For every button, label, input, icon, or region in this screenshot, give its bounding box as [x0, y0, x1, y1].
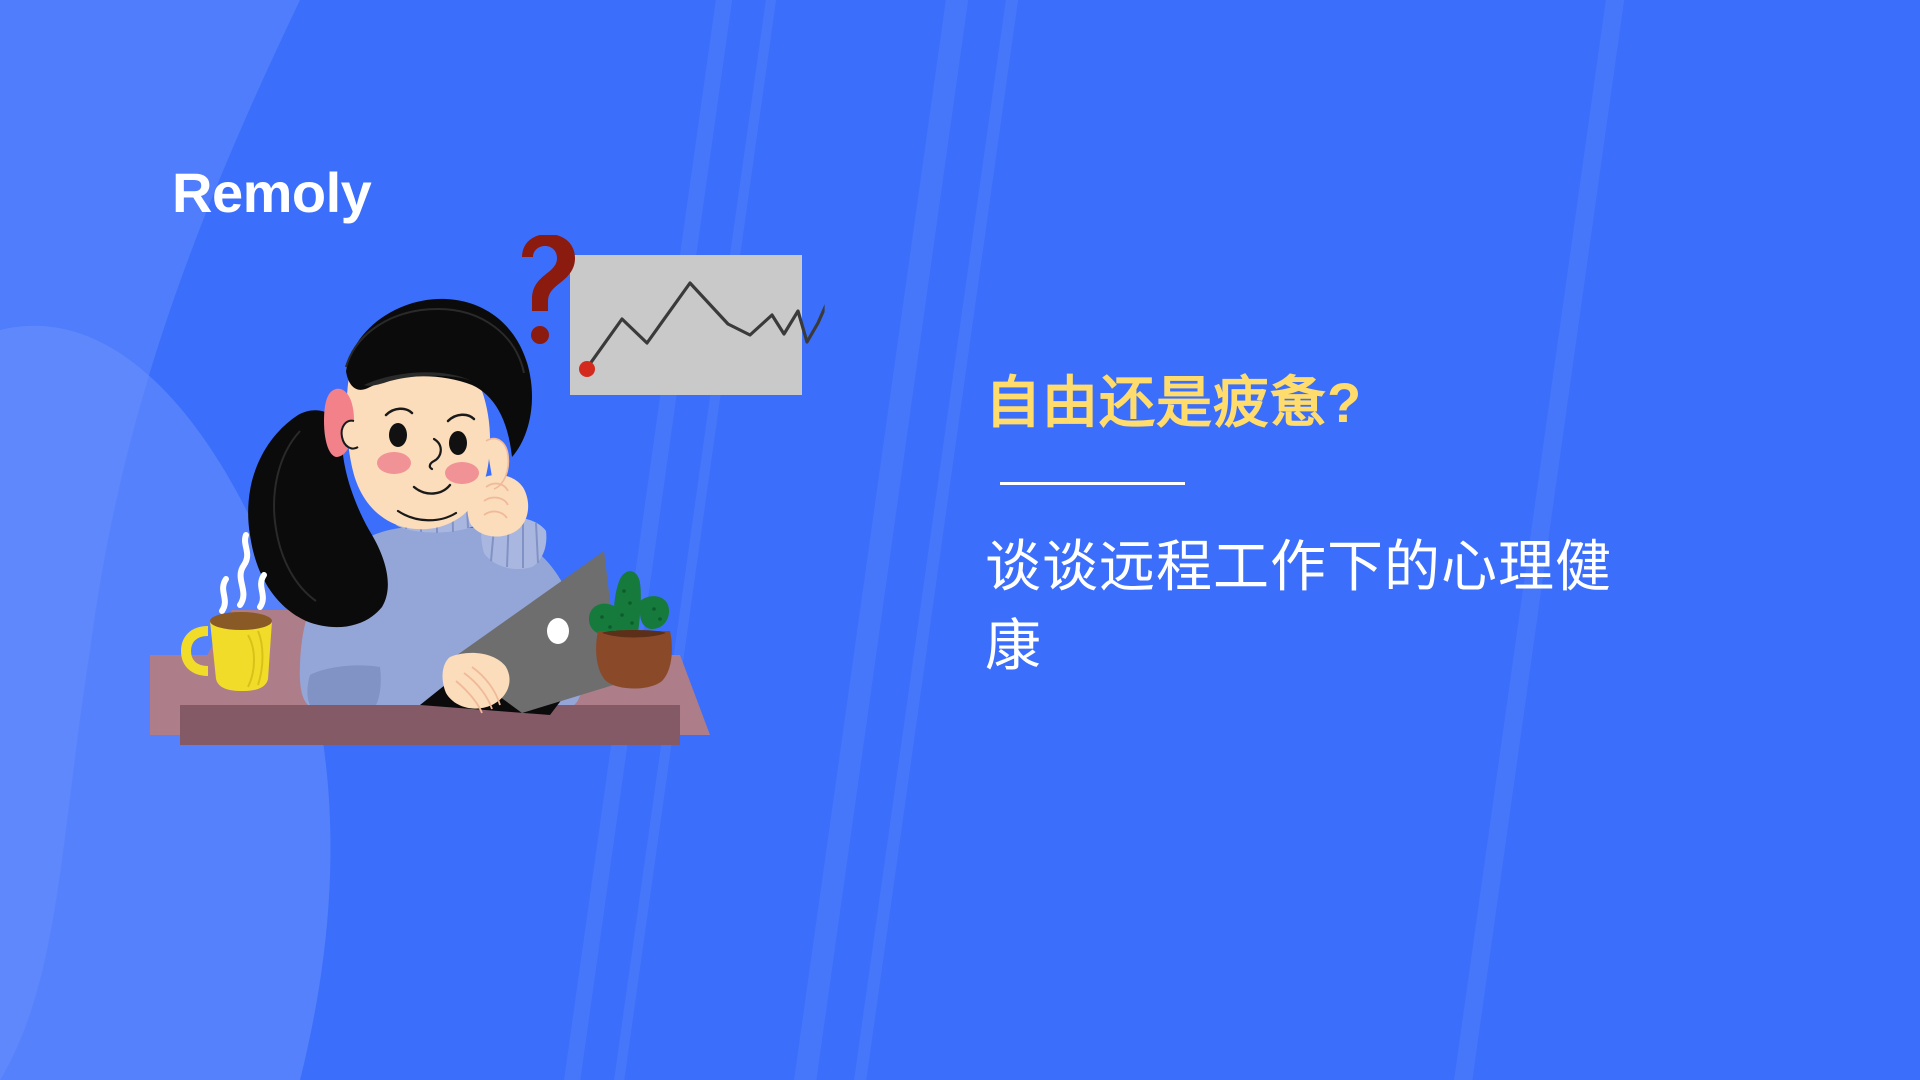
eye-left	[389, 423, 407, 447]
title-divider	[1000, 482, 1185, 485]
slide-canvas: Remoly	[0, 0, 1920, 1080]
coffee-surface	[210, 612, 272, 630]
page-subtitle: 谈谈远程工作下的心理健康	[985, 527, 1665, 686]
desk-front-edge	[180, 705, 680, 745]
plant-pot	[596, 631, 672, 689]
chart-start-dot	[579, 361, 595, 377]
blush-left	[377, 452, 411, 474]
blush-right	[445, 462, 479, 484]
cactus-stem	[614, 571, 641, 635]
chart-panel	[570, 255, 802, 395]
remote-worker-illustration	[150, 235, 880, 935]
cactus-arm-right	[640, 596, 669, 629]
eye-right	[449, 431, 467, 455]
brand-logo[interactable]: Remoly	[172, 165, 371, 221]
text-content-block: 自由还是疲惫? 谈谈远程工作下的心理健康	[985, 372, 1785, 686]
page-title: 自由还是疲惫?	[985, 372, 1785, 435]
chart-panel-group	[570, 255, 880, 395]
laptop-logo	[547, 618, 569, 644]
question-mark-icon	[522, 235, 575, 344]
